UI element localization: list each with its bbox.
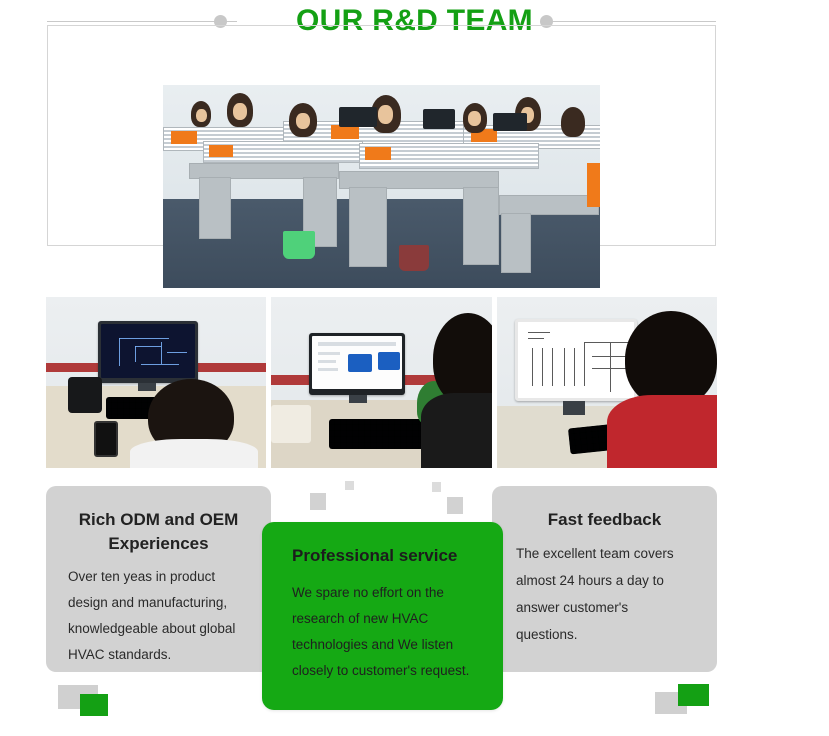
thumbnail-schematic-engineer xyxy=(497,297,717,468)
decor-bottom-left-green xyxy=(80,694,108,716)
decor-bottom-right-green xyxy=(678,684,709,706)
feature-card-professional-service: Professional service We spare no effort … xyxy=(262,522,503,710)
feature-card-odm-oem: Rich ODM and OEM Experiences Over ten ye… xyxy=(46,486,271,672)
thumbnail-female-engineer xyxy=(271,297,491,468)
decor-square-small-left xyxy=(345,481,354,490)
feature-card-fast-feedback: Fast feedback The excellent team covers … xyxy=(492,486,717,672)
feature-card-title: Professional service xyxy=(292,544,481,568)
decor-square-small-right xyxy=(432,482,441,492)
decor-square-large-right xyxy=(447,497,463,514)
rd-team-page: OUR R&D TEAM xyxy=(0,0,829,736)
decor-square-large-left xyxy=(310,493,326,510)
feature-card-title: Fast feedback xyxy=(516,508,693,532)
feature-card-body: Over ten yeas in product design and manu… xyxy=(68,564,249,668)
hero-image-office xyxy=(163,85,600,288)
feature-card-body: We spare no effort on the research of ne… xyxy=(292,580,481,684)
feature-card-title: Rich ODM and OEM Experiences xyxy=(68,508,249,556)
thumbnail-row xyxy=(46,297,717,468)
feature-card-body: The excellent team covers almost 24 hour… xyxy=(516,540,693,648)
thumbnail-cad-engineer xyxy=(46,297,266,468)
